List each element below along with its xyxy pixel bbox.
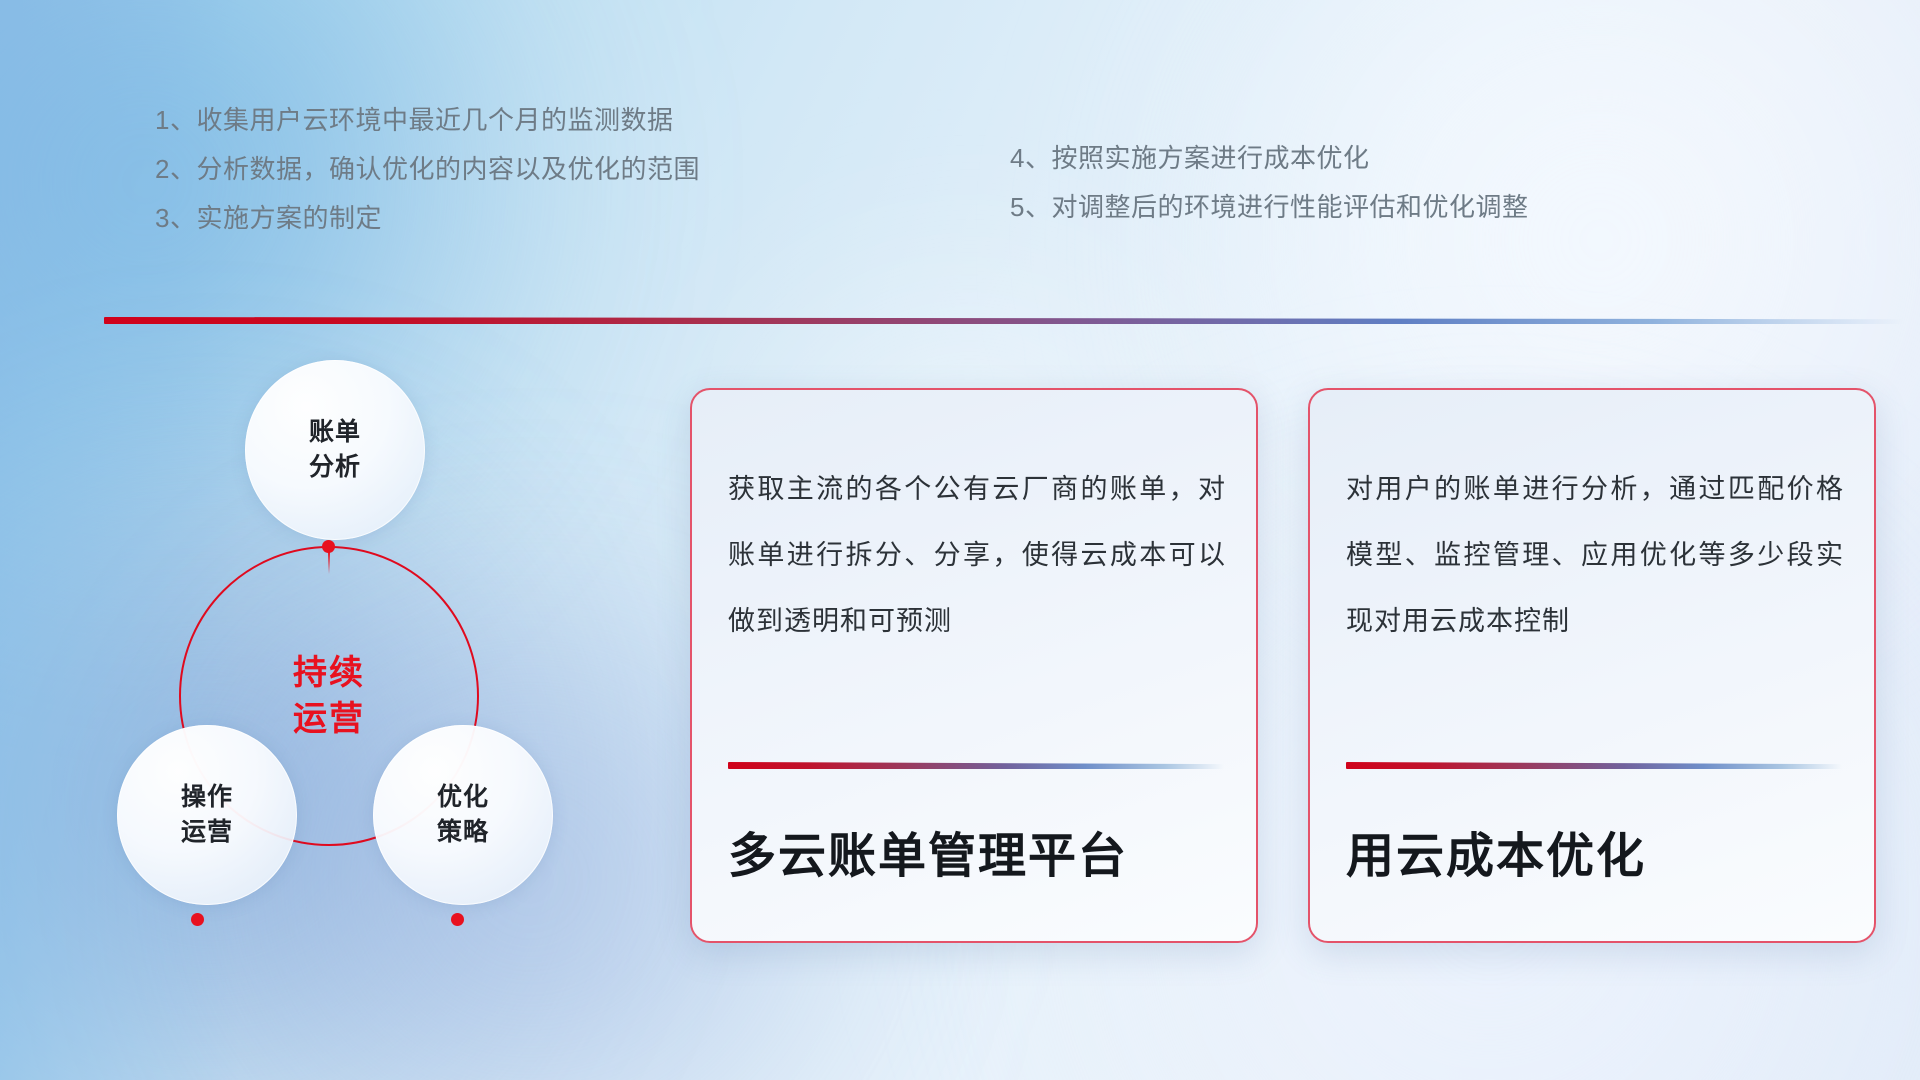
venn-dot-right bbox=[451, 913, 464, 926]
steps-right-column: 4、按照实施方案进行成本优化 5、对调整后的环境进行性能评估和优化调整 bbox=[1010, 134, 1528, 232]
card-1-divider bbox=[728, 762, 1224, 769]
card-2-body: 对用户的账单进行分析，通过匹配价格模型、监控管理、应用优化等多少段实现对用云成本… bbox=[1346, 456, 1844, 654]
card-cloud-cost-optimization[interactable]: 对用户的账单进行分析，通过匹配价格模型、监控管理、应用优化等多少段实现对用云成本… bbox=[1308, 388, 1876, 943]
venn-label-billing-line1: 账单 bbox=[245, 415, 425, 450]
venn-center-line1: 持续 bbox=[293, 654, 365, 692]
step-item-4: 4、按照实施方案进行成本优化 bbox=[1010, 134, 1528, 183]
step-item-3: 3、实施方案的制定 bbox=[155, 194, 700, 243]
venn-center-label: 持续 运营 bbox=[179, 546, 479, 846]
venn-label-billing-line2: 分析 bbox=[245, 450, 425, 485]
venn-label-billing-analysis: 账单 分析 bbox=[245, 415, 425, 485]
venn-diagram: 操作 运营 优化 策略 账单 分析 持续 运营 bbox=[95, 360, 635, 920]
venn-center-line2: 运营 bbox=[293, 700, 365, 738]
venn-dot-top bbox=[322, 540, 335, 553]
card-1-title: 多云账单管理平台 bbox=[728, 816, 1128, 886]
step-item-5: 5、对调整后的环境进行性能评估和优化调整 bbox=[1010, 183, 1528, 232]
venn-connector-top bbox=[328, 552, 330, 574]
card-1-body: 获取主流的各个公有云厂商的账单，对账单进行拆分、分享，使得云成本可以做到透明和可… bbox=[728, 456, 1226, 654]
card-2-title: 用云成本优化 bbox=[1346, 816, 1646, 886]
step-item-2: 2、分析数据，确认优化的内容以及优化的范围 bbox=[155, 145, 700, 194]
step-item-1: 1、收集用户云环境中最近几个月的监测数据 bbox=[155, 96, 700, 145]
venn-circle-billing-analysis[interactable]: 账单 分析 bbox=[245, 360, 425, 540]
steps-section: 1、收集用户云环境中最近几个月的监测数据 2、分析数据，确认优化的内容以及优化的… bbox=[0, 96, 1920, 256]
venn-dot-left bbox=[191, 913, 204, 926]
card-multi-cloud-billing-platform[interactable]: 获取主流的各个公有云厂商的账单，对账单进行拆分、分享，使得云成本可以做到透明和可… bbox=[690, 388, 1258, 943]
venn-center-text: 持续 运营 bbox=[293, 650, 365, 742]
steps-left-column: 1、收集用户云环境中最近几个月的监测数据 2、分析数据，确认优化的内容以及优化的… bbox=[155, 96, 700, 243]
card-2-divider bbox=[1346, 762, 1842, 769]
